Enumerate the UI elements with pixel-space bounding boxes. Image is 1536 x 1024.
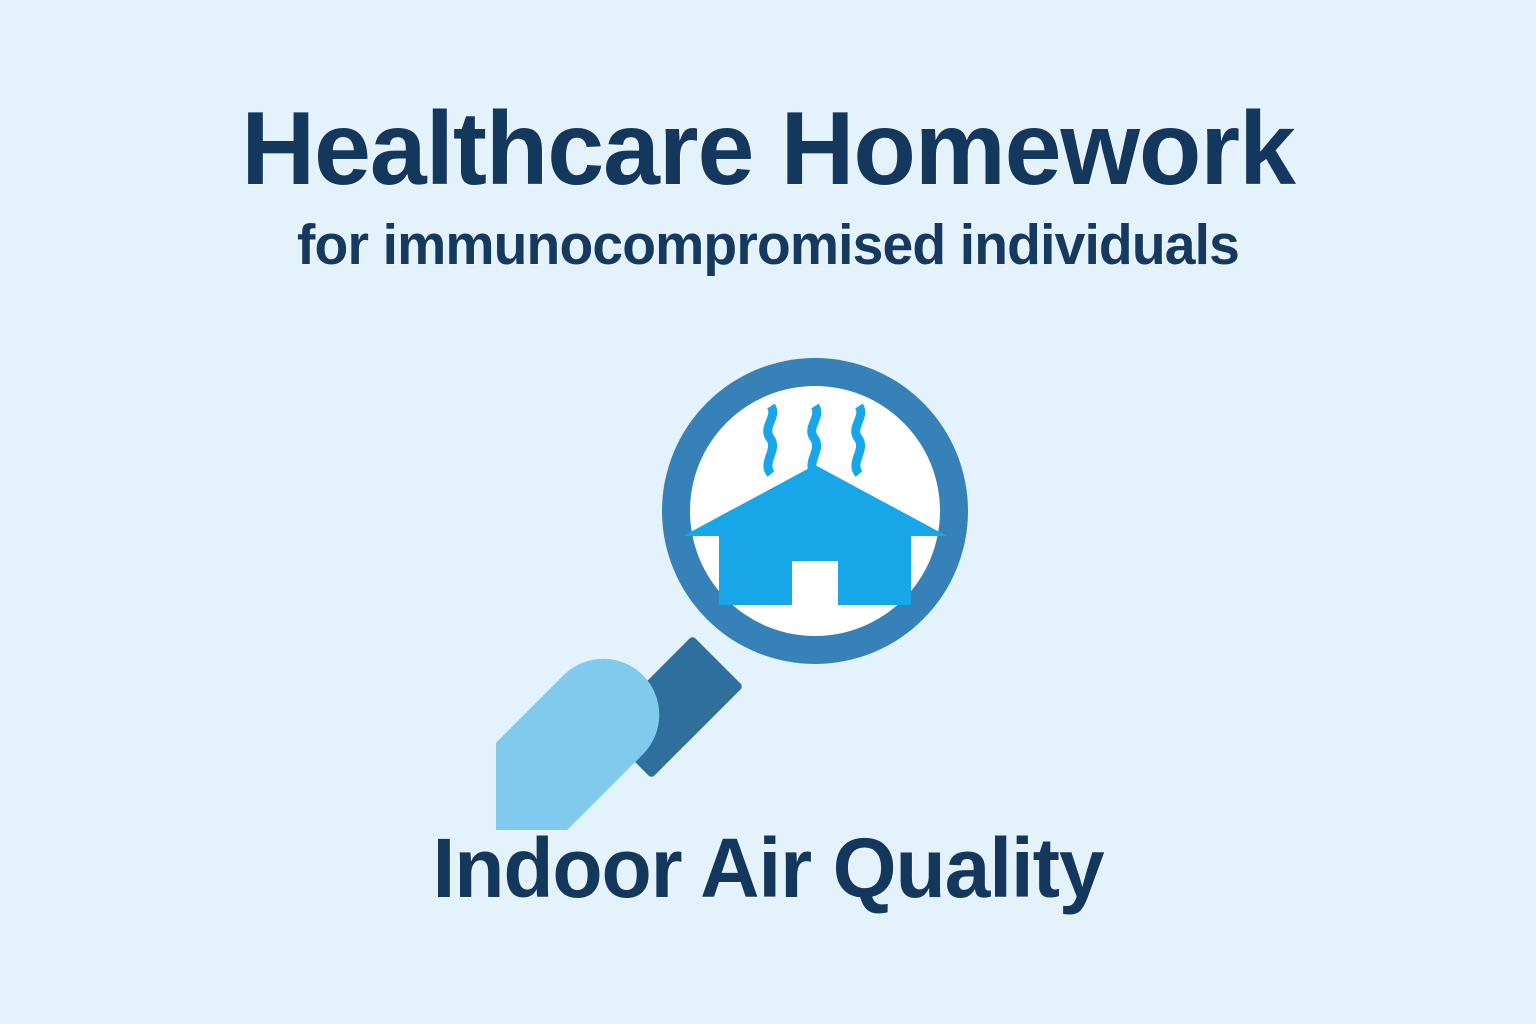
caption-block: Indoor Air Quality [0,824,1536,912]
magnifier-indoor-air-quality-icon [496,320,1036,830]
slide-canvas: Healthcare Homework for immunocompromise… [0,0,1536,1024]
page-subtitle: for immunocompromised individuals [23,216,1513,276]
topic-caption: Indoor Air Quality [15,824,1520,912]
heading-block: Healthcare Homework for immunocompromise… [0,96,1536,276]
magnifier-handle-grip-icon [496,636,682,830]
page-title: Healthcare Homework [12,96,1525,202]
house-door-icon [792,561,838,605]
